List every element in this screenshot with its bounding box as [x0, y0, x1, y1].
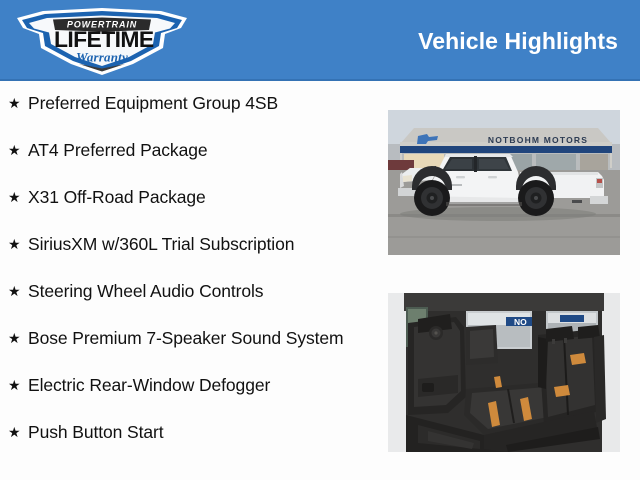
page-title: Vehicle Highlights	[418, 27, 618, 55]
vehicle-interior-photo: NO	[388, 293, 620, 452]
svg-text:Warranty: Warranty	[76, 50, 128, 65]
dealer-sign-text: NOTBOHM MOTORS	[488, 135, 588, 145]
list-item-label: SiriusXM w/360L Trial Subscription	[28, 227, 372, 256]
list-item-label: Steering Wheel Audio Controls	[28, 274, 372, 303]
list-item: ★ SiriusXM w/360L Trial Subscription	[0, 227, 372, 274]
star-bullet-icon: ★	[8, 235, 21, 254]
list-item: ★ X31 Off-Road Package	[0, 180, 372, 227]
list-item: ★ AT4 Preferred Package	[0, 133, 372, 180]
star-bullet-icon: ★	[8, 141, 21, 160]
list-item-label: Electric Rear-Window Defogger	[28, 368, 372, 397]
list-item: ★ Electric Rear-Window Defogger	[0, 368, 372, 415]
vehicle-highlights-page: POWERTRAIN LIFETIME Warranty Vehicle Hig…	[0, 0, 640, 480]
list-item-label: Preferred Equipment Group 4SB	[28, 86, 372, 115]
list-item: ★ Bose Premium 7-Speaker Sound System	[0, 321, 372, 368]
powertrain-lifetime-warranty-logo: POWERTRAIN LIFETIME Warranty	[13, 6, 191, 77]
window-sign-text: NO	[514, 317, 527, 327]
star-bullet-icon: ★	[8, 423, 21, 442]
star-bullet-icon: ★	[8, 94, 21, 113]
list-item-label: AT4 Preferred Package	[28, 133, 372, 162]
list-item: ★ Preferred Equipment Group 4SB	[0, 86, 372, 133]
list-item: ★ Steering Wheel Audio Controls	[0, 274, 372, 321]
svg-text:LIFETIME: LIFETIME	[54, 26, 154, 52]
list-item-label: Push Button Start	[28, 415, 372, 444]
header-banner: POWERTRAIN LIFETIME Warranty Vehicle Hig…	[0, 0, 640, 81]
vehicle-exterior-photo: NOTBOHM MOTORS	[388, 110, 620, 255]
list-item-label: Bose Premium 7-Speaker Sound System	[28, 321, 372, 350]
star-bullet-icon: ★	[8, 329, 21, 348]
vehicle-highlights-list: ★ Preferred Equipment Group 4SB ★ AT4 Pr…	[0, 86, 372, 462]
star-bullet-icon: ★	[8, 376, 21, 395]
list-item-label: X31 Off-Road Package	[28, 180, 372, 209]
star-bullet-icon: ★	[8, 188, 21, 207]
star-bullet-icon: ★	[8, 282, 21, 301]
list-item: ★ Push Button Start	[0, 415, 372, 462]
